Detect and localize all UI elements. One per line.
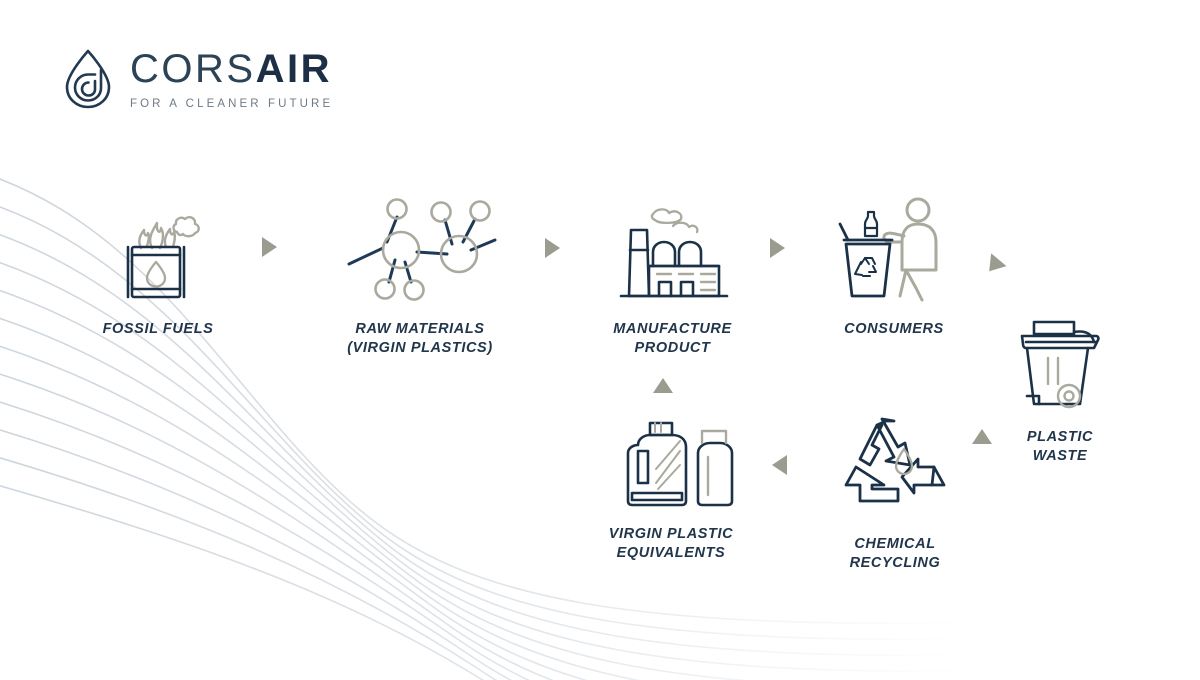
brand-logo: CORSAIR FOR A CLEANER FUTURE: [60, 48, 333, 110]
node-consumers[interactable]: CONSUMERS: [818, 192, 970, 339]
node-label: VIRGIN PLASTIC EQUIVALENTS: [609, 525, 733, 562]
arrow-virgin-to-manufacture: [653, 378, 673, 393]
arrow-waste-to-chemical: [972, 429, 992, 444]
node-fossil-fuels[interactable]: FOSSIL FUELS: [78, 192, 238, 339]
brand-name-bold: AIR: [256, 47, 332, 91]
arrow-manufacture-to-consumers: [770, 238, 785, 258]
person-recycling-bin-icon: [834, 192, 954, 310]
node-label: CHEMICAL RECYCLING: [850, 535, 941, 572]
arrow-chemical-to-virgin: [772, 455, 787, 475]
node-label: RAW MATERIALS (VIRGIN PLASTICS): [347, 320, 493, 357]
node-plastic-waste[interactable]: PLASTIC WASTE: [995, 310, 1125, 465]
brand-tagline: FOR A CLEANER FUTURE: [130, 98, 333, 110]
node-label: MANUFACTURE PRODUCT: [613, 320, 732, 357]
node-virgin-plastic-equivalents[interactable]: VIRGIN PLASTIC EQUIVALENTS: [588, 405, 754, 562]
node-chemical-recycling[interactable]: CHEMICAL RECYCLING: [822, 415, 968, 572]
oil-barrel-flame-icon: [99, 192, 217, 310]
brand-name-light: CORS: [130, 47, 256, 91]
node-label: CONSUMERS: [844, 320, 944, 339]
arrow-raw-to-manufacture: [545, 238, 560, 258]
node-label: PLASTIC WASTE: [1027, 428, 1093, 465]
molecule-icon: [335, 192, 505, 310]
factory-icon: [609, 192, 737, 310]
arrow-fossil-to-raw: [262, 237, 277, 257]
arrow-consumers-to-waste: [982, 253, 1007, 277]
plastic-bottles-icon: [608, 405, 734, 515]
brand-wordmark: CORSAIR: [130, 49, 333, 89]
infographic-canvas: CORSAIR FOR A CLEANER FUTURE: [0, 0, 1200, 675]
recycling-droplet-icon: [836, 415, 954, 525]
node-manufacture-product[interactable]: MANUFACTURE PRODUCT: [585, 192, 760, 357]
node-raw-materials[interactable]: RAW MATERIALS (VIRGIN PLASTICS): [330, 192, 510, 357]
water-droplet-spiral-icon: [60, 48, 116, 110]
node-label: FOSSIL FUELS: [103, 320, 214, 339]
wheelie-bin-icon: [1006, 310, 1114, 418]
